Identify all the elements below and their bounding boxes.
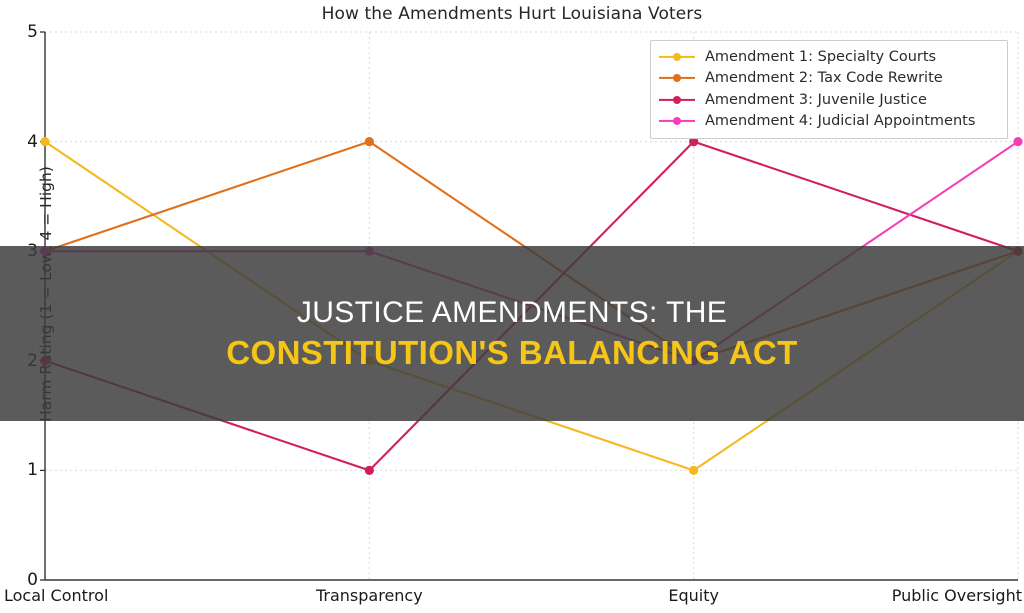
data-point (365, 466, 374, 475)
legend-item-3[interactable]: Amendment 3: Juvenile Justice (659, 89, 999, 111)
overlay-headline-secondary: CONSTITUTION'S BALANCING ACT (226, 335, 797, 371)
legend-item-4[interactable]: Amendment 4: Judicial Appointments (659, 111, 999, 133)
data-point (40, 137, 49, 146)
chart-container: How the Amendments Hurt Louisiana Voters… (0, 0, 1024, 613)
data-point (1013, 137, 1022, 146)
chart-legend: Amendment 1: Specialty CourtsAmendment 2… (650, 40, 1008, 139)
legend-swatch-icon (659, 51, 695, 63)
legend-item-1[interactable]: Amendment 1: Specialty Courts (659, 46, 999, 68)
legend-swatch-icon (659, 115, 695, 127)
x-tick-transparency: Transparency (316, 586, 423, 605)
legend-label: Amendment 2: Tax Code Rewrite (705, 70, 943, 86)
x-axis-tick-labels: Local ControlTransparencyEquityPublic Ov… (0, 586, 1024, 612)
overlay-banner: JUSTICE AMENDMENTS: THE CONSTITUTION'S B… (0, 246, 1024, 421)
legend-item-2[interactable]: Amendment 2: Tax Code Rewrite (659, 68, 999, 90)
data-point (365, 137, 374, 146)
data-point (689, 466, 698, 475)
legend-swatch-icon (659, 72, 695, 84)
legend-label: Amendment 1: Specialty Courts (705, 49, 936, 65)
legend-label: Amendment 4: Judicial Appointments (705, 113, 975, 129)
overlay-headline-primary: JUSTICE AMENDMENTS: THE (297, 296, 727, 329)
x-tick-equity: Equity (668, 586, 719, 605)
legend-swatch-icon (659, 94, 695, 106)
x-tick-public-oversight: Public Oversight (892, 586, 1022, 605)
legend-label: Amendment 3: Juvenile Justice (705, 92, 927, 108)
x-tick-local-control: Local Control (4, 586, 108, 605)
